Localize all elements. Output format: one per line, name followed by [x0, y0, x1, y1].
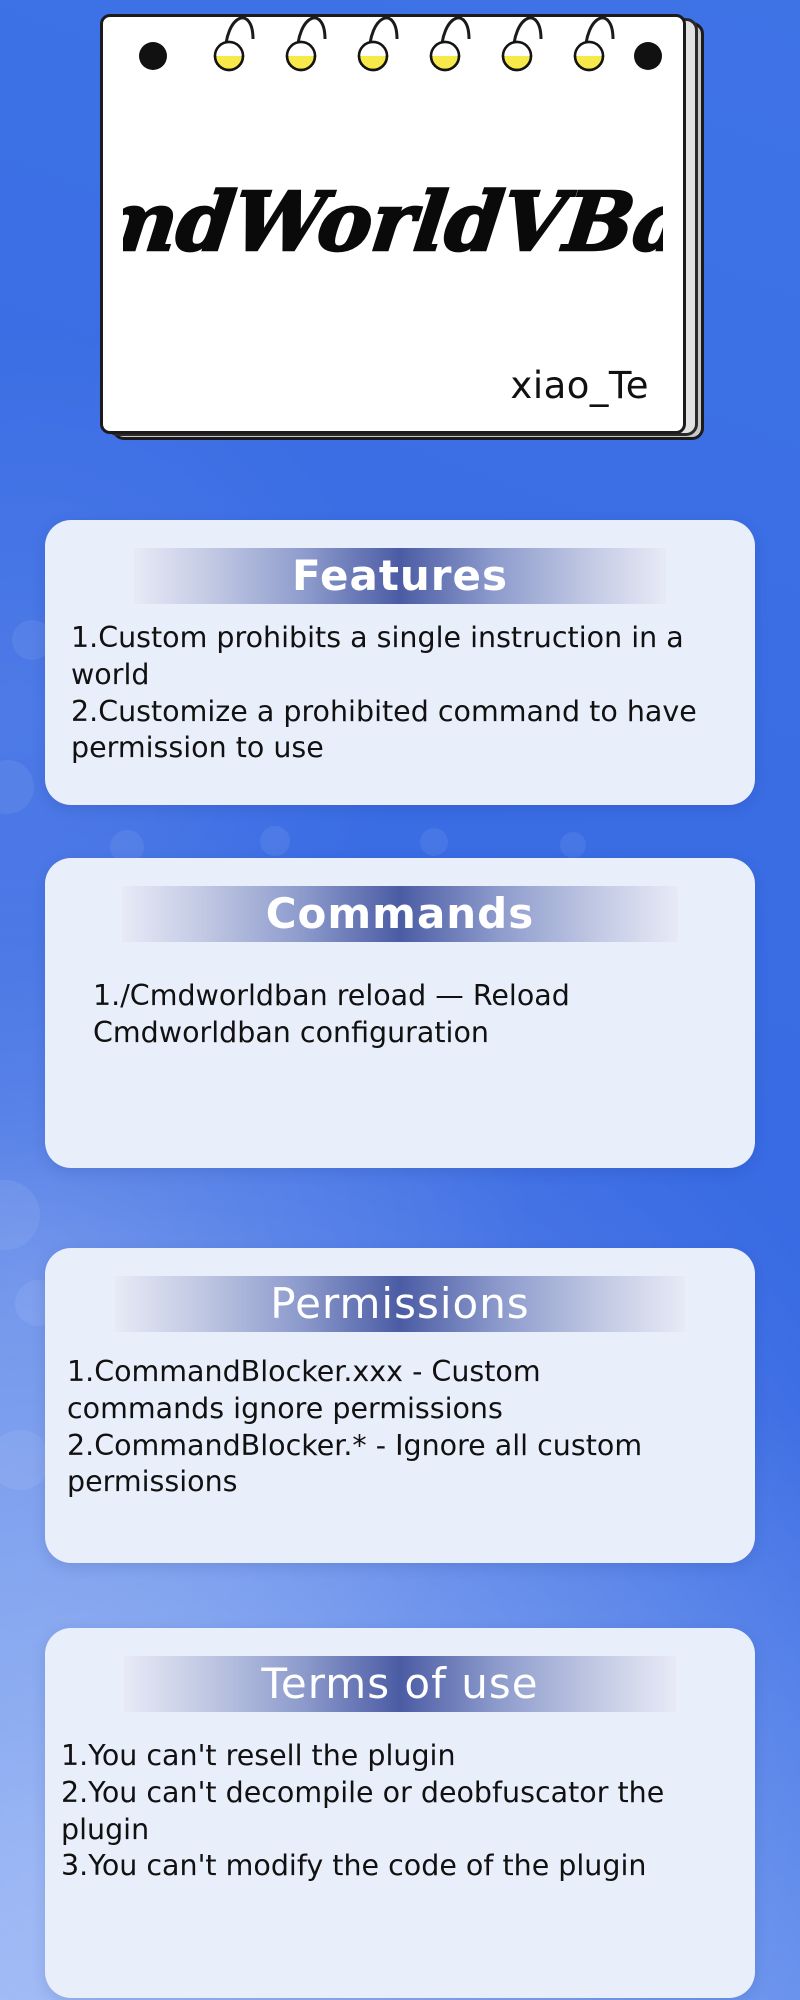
background-blob: [420, 828, 448, 856]
card-permissions: Permissions 1.CommandBlocker.xxx - Custo…: [45, 1248, 755, 1563]
card-commands: Commands 1./Cmdworldban reload — Reload …: [45, 858, 755, 1168]
card-features-line: 1.Custom prohibits a single instruction …: [71, 620, 729, 657]
card-commands-title: Commands: [266, 893, 535, 935]
card-terms-line: 3.You can't modify the code of the plugi…: [61, 1848, 729, 1885]
card-permissions-title: Permissions: [270, 1283, 529, 1325]
card-features-line: world: [71, 657, 729, 694]
card-terms-line: plugin: [61, 1812, 729, 1849]
author-name: xiao_Te: [510, 364, 649, 407]
card-permissions-body: 1.CommandBlocker.xxx - Custom commands i…: [45, 1332, 755, 1525]
card-commands-line: 1./Cmdworldban reload — Reload: [93, 978, 729, 1015]
card-commands-body: 1./Cmdworldban reload — Reload Cmdworldb…: [45, 942, 755, 1076]
card-features: Features 1.Custom prohibits a single ins…: [45, 520, 755, 805]
notepad-header: CmdWorldVBan CmdWorldVBan xiao_Te: [100, 8, 700, 440]
card-permissions-line: commands ignore permissions: [67, 1391, 729, 1428]
background-blob: [0, 760, 34, 814]
card-terms-line: 2.You can't decompile or deobfuscator th…: [61, 1775, 729, 1812]
card-features-banner: Features: [134, 548, 666, 604]
background-blob: [260, 826, 290, 856]
notepad-front-page: CmdWorldVBan CmdWorldVBan xiao_Te: [100, 14, 686, 434]
background-blob: [0, 1430, 50, 1490]
card-terms-line: 1.You can't resell the plugin: [61, 1738, 729, 1775]
card-permissions-line: permissions: [67, 1464, 729, 1501]
background-blob: [0, 1180, 40, 1250]
card-features-line: permission to use: [71, 730, 729, 767]
card-terms-body: 1.You can't resell the plugin 2.You can'…: [45, 1712, 755, 1909]
card-permissions-line: 1.CommandBlocker.xxx - Custom: [67, 1354, 729, 1391]
card-features-title: Features: [292, 555, 508, 597]
card-features-body: 1.Custom prohibits a single instruction …: [45, 604, 755, 791]
card-terms-banner: Terms of use: [124, 1656, 676, 1712]
card-commands-line: Cmdworldban configuration: [93, 1015, 729, 1052]
card-permissions-banner: Permissions: [115, 1276, 685, 1332]
card-commands-banner: Commands: [122, 886, 678, 942]
background-blob: [560, 832, 586, 858]
card-terms-of-use: Terms of use 1.You can't resell the plug…: [45, 1628, 755, 1998]
spiral-binding-icon: [103, 17, 689, 87]
card-terms-title: Terms of use: [261, 1663, 538, 1705]
plugin-title: CmdWorldVBan CmdWorldVBan: [103, 167, 683, 283]
plugin-title-outline: CmdWorldVBan: [123, 175, 663, 270]
card-features-line: 2.Customize a prohibited command to have: [71, 694, 729, 731]
card-permissions-line: 2.CommandBlocker.* - Ignore all custom: [67, 1428, 729, 1465]
